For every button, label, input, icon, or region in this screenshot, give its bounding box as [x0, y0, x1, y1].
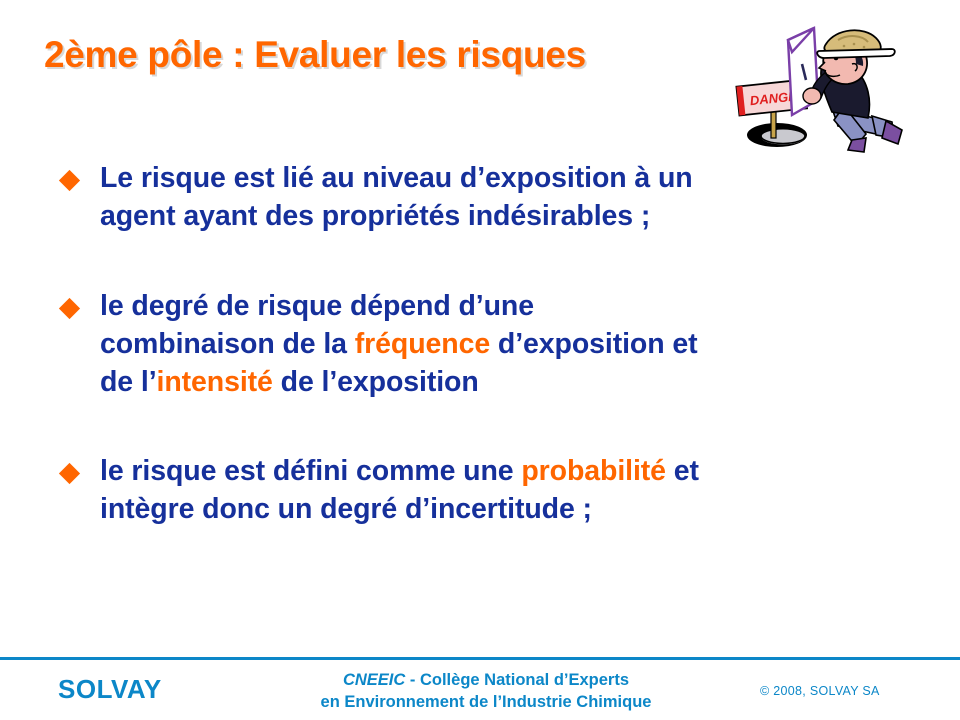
organization-line1-rest: - Collège National d’Experts — [405, 671, 629, 689]
danger-manhole-illustration: DANGER! — [726, 22, 916, 167]
bullet-2-line-2c: d’exposition et — [490, 328, 697, 360]
bullet-2-highlight-intensite: intensité — [157, 366, 273, 398]
bullet-2-line-2a: combinaison de la — [100, 328, 355, 360]
bullet-1-line-2: agent ayant des propriétés indésirables … — [100, 200, 650, 232]
presentation-slide: 2ème pôle : Evaluer les risques DANGER! — [0, 0, 960, 720]
bullet-3-line-1a: le risque est défini comme une — [100, 455, 521, 487]
bullet-item-1-text: Le risque est lié au niveau d’exposition… — [100, 160, 912, 236]
bullet-item-1: Le risque est lié au niveau d’exposition… — [62, 160, 912, 236]
bullet-2-highlight-frequence: fréquence — [355, 328, 490, 360]
solvay-logo: SOLVAY — [58, 674, 162, 705]
bullet-item-3-text: le risque est défini comme une probabili… — [100, 453, 912, 529]
bullet-list: Le risque est lié au niveau d’exposition… — [62, 160, 912, 529]
bullet-2-line-1: le degré de risque dépend d’une — [100, 290, 534, 322]
diamond-bullet-icon — [59, 463, 80, 484]
hat-icon — [817, 30, 895, 58]
bullet-item-3: le risque est défini comme une probabili… — [62, 453, 912, 529]
organization-acronym: CNEEIC — [343, 671, 405, 689]
bullet-2-line-3a: de l’ — [100, 366, 157, 398]
bullet-item-2: le degré de risque dépend d’une combinai… — [62, 288, 912, 402]
bullet-2-line-3c: de l’exposition — [273, 366, 479, 398]
slide-footer: SOLVAY CNEEIC - Collège National d’Exper… — [0, 660, 960, 720]
bullet-3-line-2: intègre donc un degré d’incertitude ; — [100, 493, 592, 525]
diamond-bullet-icon — [59, 170, 80, 191]
bullet-3-highlight-probabilite: probabilité — [521, 455, 666, 487]
slide-title: 2ème pôle : Evaluer les risques — [44, 34, 586, 76]
manhole-icon — [747, 123, 807, 147]
illustration-svg: DANGER! — [726, 22, 916, 167]
bullet-item-2-text: le degré de risque dépend d’une combinai… — [100, 288, 912, 402]
organization-line2: en Environnement de l’Industrie Chimique — [321, 693, 652, 711]
organization-name: CNEEIC - Collège National d’Experts en E… — [236, 669, 736, 714]
bullet-1-line-1: Le risque est lié au niveau d’exposition… — [100, 162, 693, 194]
bullet-3-line-1c: et — [666, 455, 699, 487]
copyright-notice: © 2008, SOLVAY SA — [760, 684, 880, 698]
diamond-bullet-icon — [59, 298, 80, 319]
